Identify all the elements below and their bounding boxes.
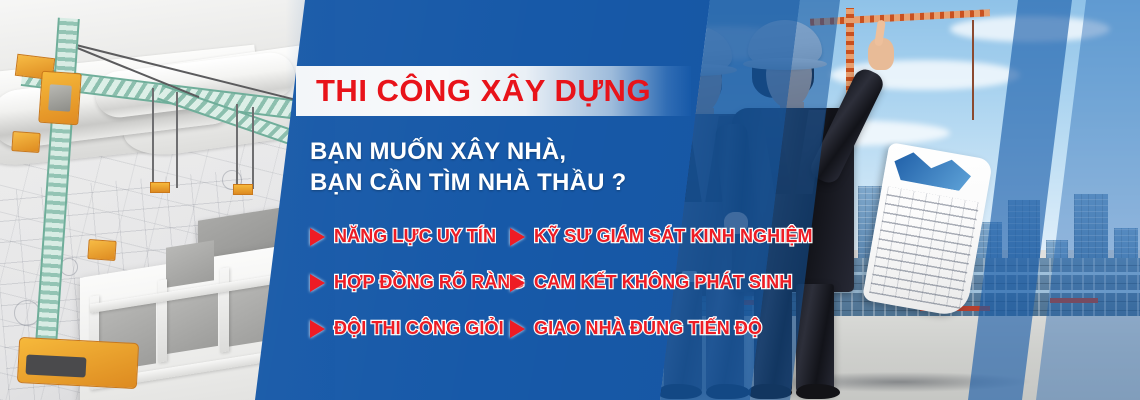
feature-list: NĂNG LỰC UY TÍN KỸ SƯ GIÁM SÁT KINH NGHI… bbox=[310, 226, 810, 364]
subtitle-block: BẠN MUỐN XÂY NHÀ, BẠN CẦN TÌM NHÀ THẦU ? bbox=[310, 136, 730, 198]
feature-label: CAM KẾT KHÔNG PHÁT SINH bbox=[534, 272, 792, 293]
subtitle-line-2: BẠN CẦN TÌM NHÀ THẦU ? bbox=[310, 167, 730, 198]
feature-label: ĐỘI THI CÔNG GIỎI bbox=[334, 318, 504, 339]
feature-row: HỢP ĐỒNG RÕ RÀNG CAM KẾT KHÔNG PHÁT SINH bbox=[310, 272, 810, 318]
feature-label: HỢP ĐỒNG RÕ RÀNG bbox=[334, 272, 525, 293]
feature-item[interactable]: GIAO NHÀ ĐÚNG TIẾN ĐỘ bbox=[510, 318, 762, 339]
feature-item[interactable]: NĂNG LỰC UY TÍN bbox=[310, 226, 496, 247]
feature-row: NĂNG LỰC UY TÍN KỸ SƯ GIÁM SÁT KINH NGHI… bbox=[310, 226, 810, 272]
triangle-arrow-icon bbox=[510, 228, 525, 246]
triangle-arrow-icon bbox=[310, 228, 325, 246]
triangle-arrow-icon bbox=[310, 320, 325, 338]
feature-item[interactable]: HỢP ĐỒNG RÕ RÀNG bbox=[310, 272, 525, 293]
title-bar: THI CÔNG XÂY DỰNG bbox=[296, 66, 691, 116]
triangle-arrow-icon bbox=[310, 274, 325, 292]
feature-label: KỸ SƯ GIÁM SÁT KINH NGHIỆM bbox=[534, 226, 813, 247]
promo-banner: THI CÔNG XÂY DỰNG BẠN MUỐN XÂY NHÀ, BẠN … bbox=[0, 0, 1140, 400]
triangle-arrow-icon bbox=[510, 274, 525, 292]
feature-label: NĂNG LỰC UY TÍN bbox=[334, 226, 496, 247]
subtitle-line-1: BẠN MUỐN XÂY NHÀ, bbox=[310, 136, 730, 167]
banner-content: THI CÔNG XÂY DỰNG BẠN MUỐN XÂY NHÀ, BẠN … bbox=[0, 0, 1140, 400]
feature-label: GIAO NHÀ ĐÚNG TIẾN ĐỘ bbox=[534, 318, 762, 339]
page-title: THI CÔNG XÂY DỰNG bbox=[316, 66, 651, 116]
triangle-arrow-icon bbox=[510, 320, 525, 338]
feature-item[interactable]: CAM KẾT KHÔNG PHÁT SINH bbox=[510, 272, 792, 293]
feature-item[interactable]: KỸ SƯ GIÁM SÁT KINH NGHIỆM bbox=[510, 226, 813, 247]
feature-item[interactable]: ĐỘI THI CÔNG GIỎI bbox=[310, 318, 504, 339]
feature-row: ĐỘI THI CÔNG GIỎI GIAO NHÀ ĐÚNG TIẾN ĐỘ bbox=[310, 318, 810, 364]
